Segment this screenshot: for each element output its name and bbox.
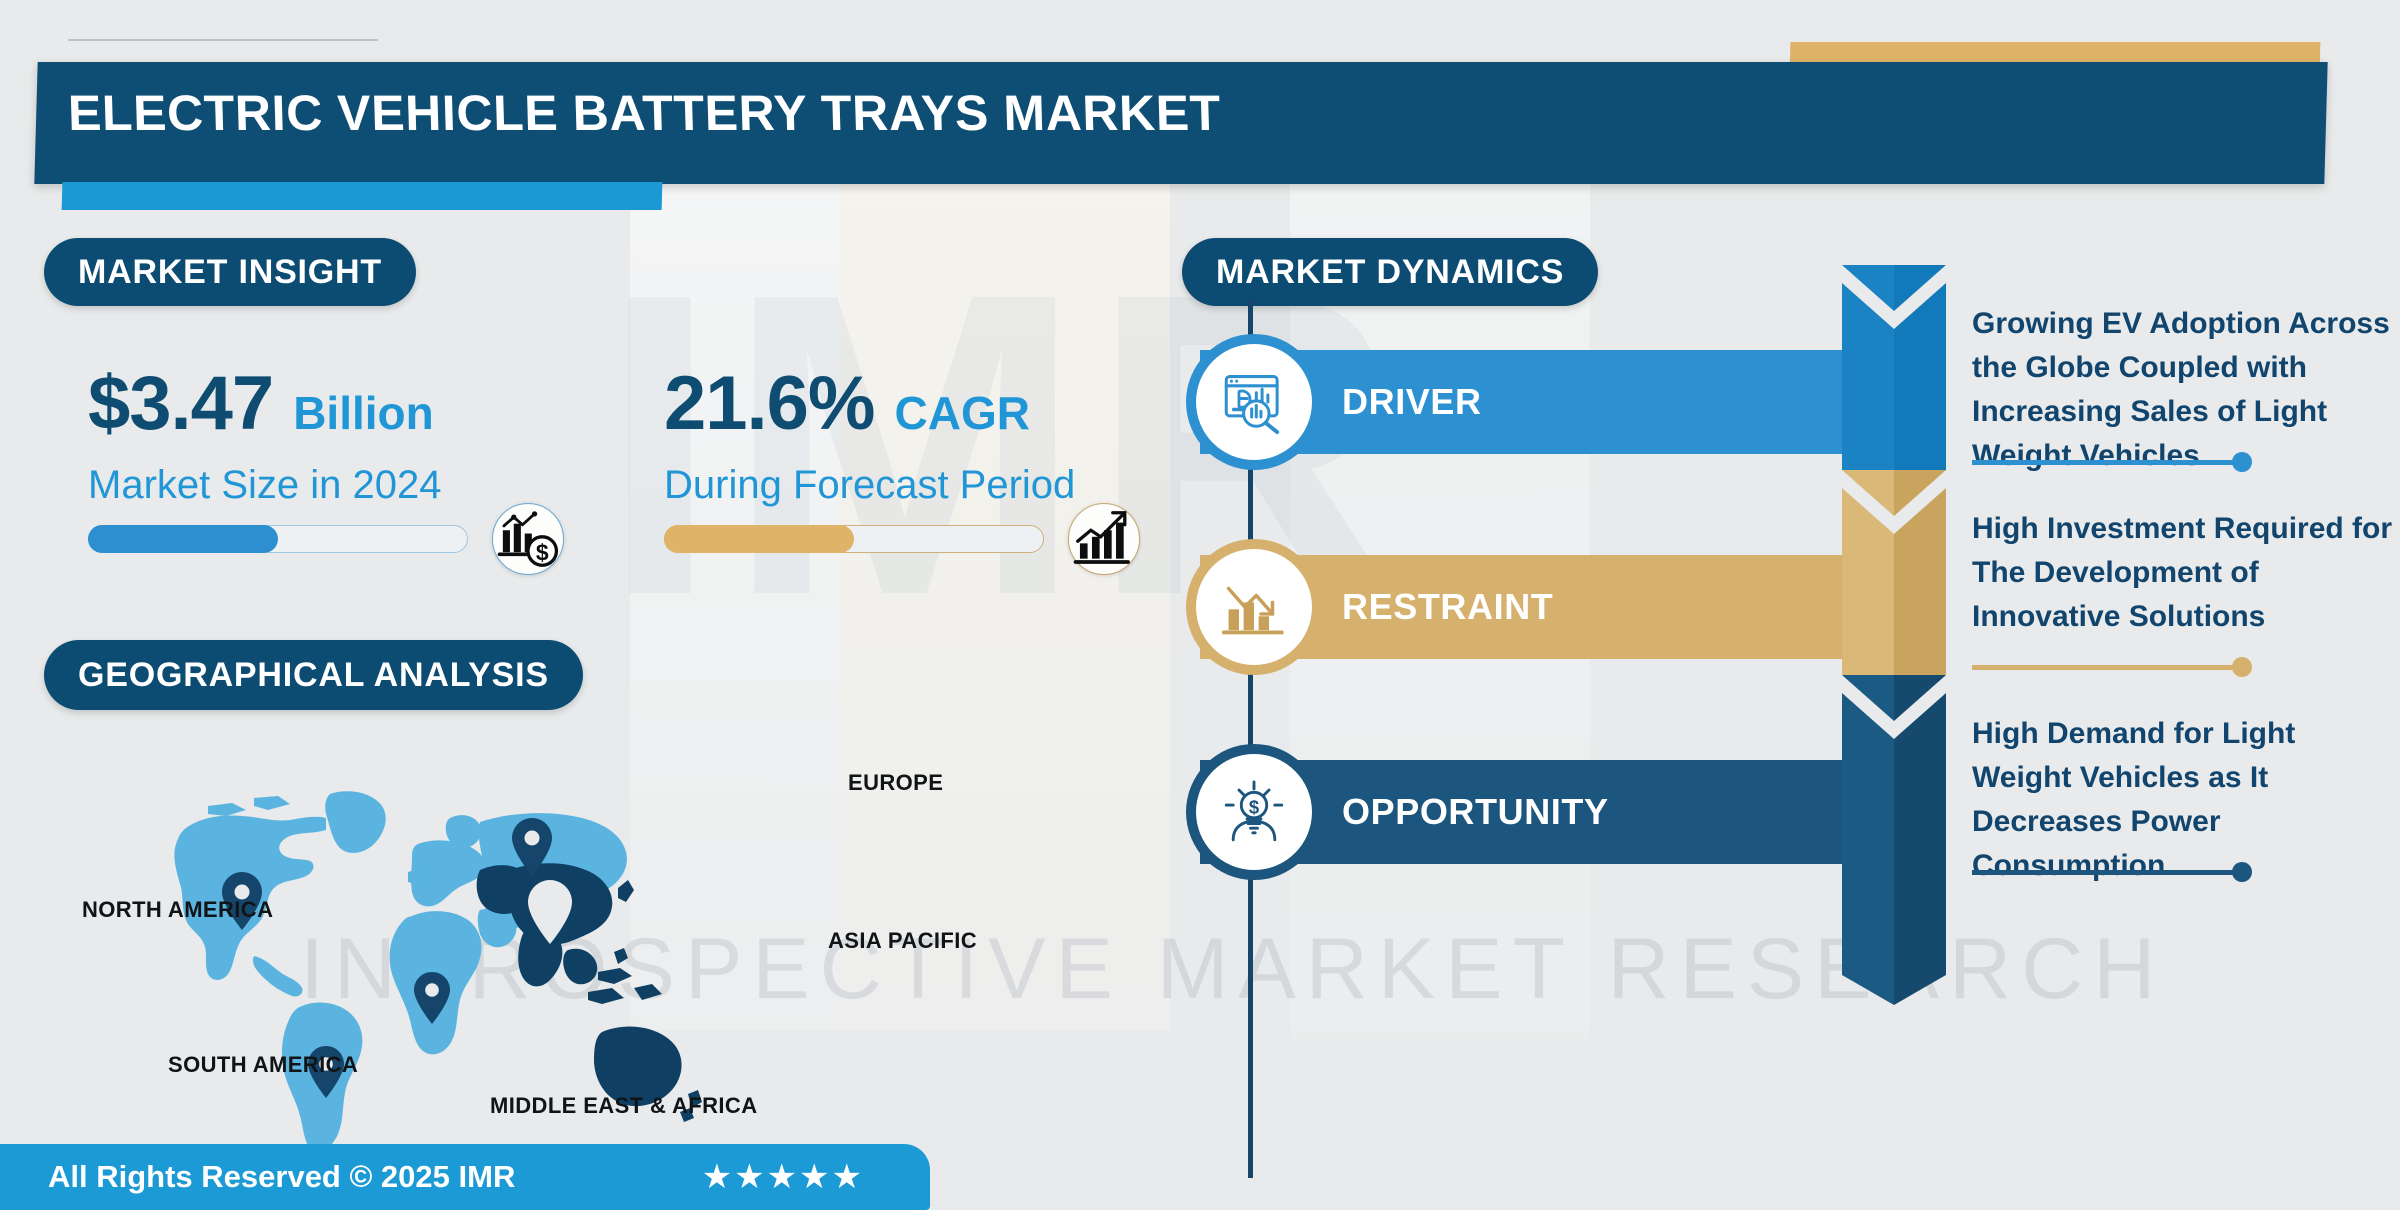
declining-bar-chart-icon bbox=[1196, 549, 1312, 665]
map-label-south-america: SOUTH AMERICA bbox=[168, 1052, 358, 1078]
market-size-value: $3.47 bbox=[88, 360, 273, 447]
progress-fill bbox=[664, 525, 854, 553]
market-size-progress: $ bbox=[88, 516, 468, 562]
cagr-unit: CAGR bbox=[895, 386, 1030, 440]
opportunity-ribbon bbox=[1842, 675, 1946, 1005]
cagr-value: 21.6% bbox=[664, 360, 875, 447]
dashboard-analysis-icon bbox=[1196, 344, 1312, 460]
title-blue-accent bbox=[62, 182, 663, 210]
cagr-caption: During Forecast Period bbox=[664, 463, 1075, 508]
restraint-label: RESTRAINT bbox=[1342, 555, 1553, 659]
market-dynamics-heading: MARKET DYNAMICS bbox=[1182, 238, 1598, 306]
lightbulb-dollar-icon: $ bbox=[1196, 754, 1312, 870]
bar-chart-dollar-icon: $ bbox=[492, 503, 564, 575]
map-label-asia-pacific: ASIA PACIFIC bbox=[828, 928, 977, 954]
driver-underline bbox=[1972, 460, 2242, 465]
dynamics-item-opportunity[interactable]: $ OPPORTUNITY High Demand for Light Weig… bbox=[1182, 760, 2392, 890]
title-banner: ELECTRIC VEHICLE BATTERY TRAYS MARKET bbox=[0, 22, 2400, 192]
geographical-analysis-heading: GEOGRAPHICAL ANALYSIS bbox=[44, 640, 583, 710]
driver-label: DRIVER bbox=[1342, 350, 1482, 454]
copyright-text: All Rights Reserved © 2025 IMR bbox=[48, 1159, 515, 1195]
driver-tag: DRIVER bbox=[1200, 350, 1860, 454]
driver-end-dot bbox=[2232, 452, 2252, 472]
restraint-tag: RESTRAINT bbox=[1200, 555, 1860, 659]
restraint-underline bbox=[1972, 665, 2242, 670]
opportunity-tag: $ OPPORTUNITY bbox=[1200, 760, 1860, 864]
title-hairline bbox=[68, 39, 378, 41]
opportunity-text: High Demand for Light Weight Vehicles as… bbox=[1972, 712, 2400, 888]
growth-chart-arrow-icon bbox=[1068, 503, 1140, 575]
infographic-page: IMR INTROSPECTIVE MARKET RESEARCH ELECTR… bbox=[0, 0, 2400, 1210]
restraint-end-dot bbox=[2232, 657, 2252, 677]
opportunity-underline bbox=[1972, 870, 2242, 875]
dynamics-item-driver[interactable]: DRIVER Growing EV Adoption Across the Gl… bbox=[1182, 350, 2392, 480]
market-insight-heading: MARKET INSIGHT bbox=[44, 238, 416, 306]
driver-text: Growing EV Adoption Across the Globe Cou… bbox=[1972, 302, 2400, 478]
svg-text:$: $ bbox=[536, 539, 549, 565]
market-size-caption: Market Size in 2024 bbox=[88, 463, 442, 508]
progress-fill bbox=[88, 525, 278, 553]
market-dynamics-panel: DRIVER Growing EV Adoption Across the Gl… bbox=[1182, 300, 2392, 1210]
footer-bar: All Rights Reserved © 2025 IMR ★★★★★ bbox=[0, 1144, 930, 1210]
map-label-middle-east-africa: MIDDLE EAST & AFRICA bbox=[490, 1093, 758, 1119]
kpi-market-size: $3.47 Billion Market Size in 2024 bbox=[88, 360, 442, 508]
dynamics-item-restraint[interactable]: RESTRAINT High Investment Required for T… bbox=[1182, 555, 2392, 685]
page-title: ELECTRIC VEHICLE BATTERY TRAYS MARKET bbox=[67, 84, 1221, 142]
restraint-text: High Investment Required for The Develop… bbox=[1972, 507, 2400, 639]
opportunity-label: OPPORTUNITY bbox=[1342, 760, 1609, 864]
kpi-cagr: 21.6% CAGR During Forecast Period bbox=[664, 360, 1075, 508]
map-label-north-america: NORTH AMERICA bbox=[82, 897, 273, 923]
market-size-unit: Billion bbox=[293, 386, 434, 440]
opportunity-end-dot bbox=[2232, 862, 2252, 882]
star-rating-icon: ★★★★★ bbox=[702, 1157, 864, 1197]
cagr-progress bbox=[664, 516, 1044, 562]
svg-text:$: $ bbox=[1249, 797, 1260, 818]
map-label-europe: EUROPE bbox=[848, 770, 943, 796]
